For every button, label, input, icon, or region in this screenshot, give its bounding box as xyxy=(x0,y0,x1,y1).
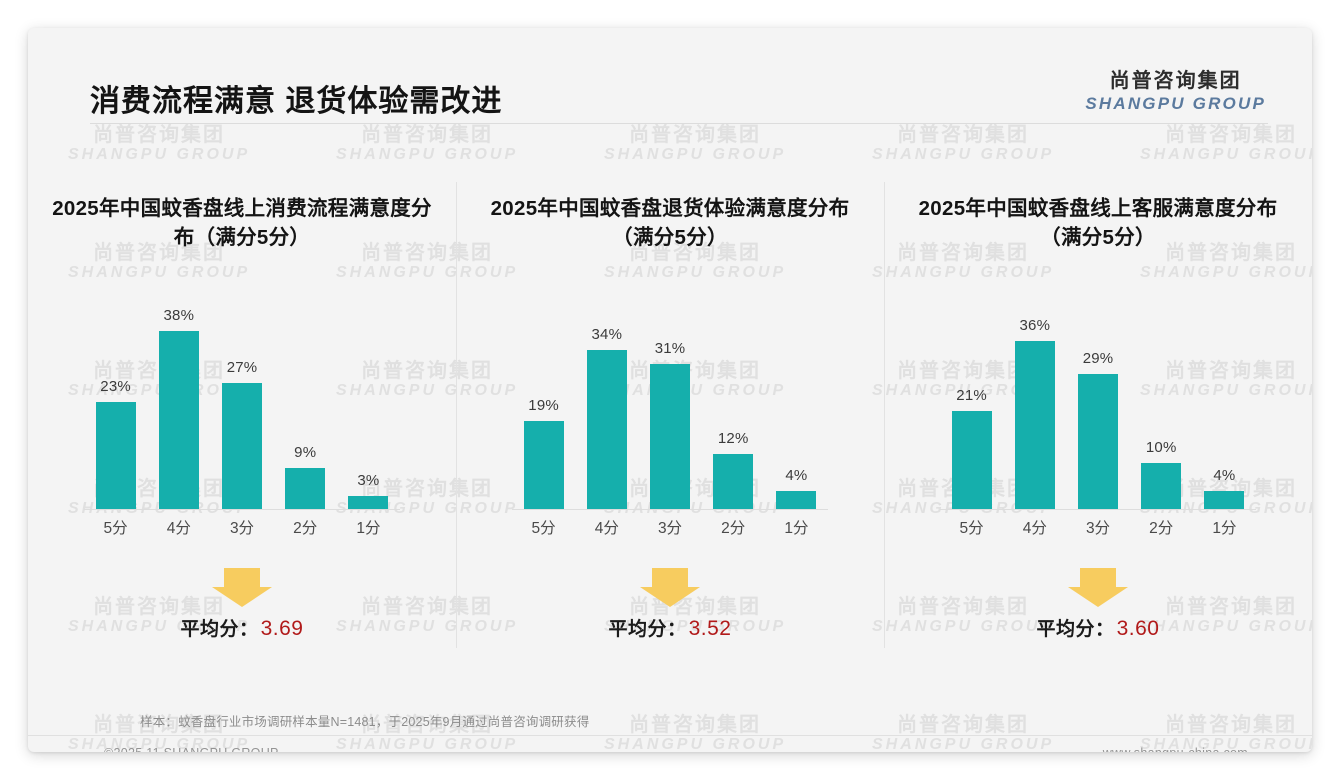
bar xyxy=(159,331,199,510)
watermark-chinese: 尚普咨询集团 xyxy=(1140,124,1312,146)
watermark-chinese: 尚普咨询集团 xyxy=(604,124,786,146)
average-label-3: 平均分： xyxy=(1037,619,1115,640)
chart-title-3: 2025年中国蚊香盘线上客服满意度分布（满分5分） xyxy=(896,168,1300,260)
bar-chart-2: 19%34%31%12%4% 5分4分3分2分1分 xyxy=(512,292,828,542)
chart-title-1: 2025年中国蚊香盘线上消费流程满意度分布（满分5分） xyxy=(40,168,444,260)
plot-area-1: 23%38%27%9%3% xyxy=(84,292,400,510)
watermark-english: SHANGPU GROUP xyxy=(872,146,1054,164)
watermark-chinese: 尚普咨询集团 xyxy=(872,124,1054,146)
x-axis-tick-label: 5分 xyxy=(84,516,147,538)
bar-slot: 31% xyxy=(638,292,701,510)
bar xyxy=(1204,491,1244,510)
bar-slot: 34% xyxy=(575,292,638,510)
average-score-1: 平均分：3.69 xyxy=(40,614,444,641)
average-score-3: 平均分：3.60 xyxy=(896,614,1300,641)
bar-slot: 21% xyxy=(940,292,1003,510)
bar-slot: 19% xyxy=(512,292,575,510)
bar-slot: 36% xyxy=(1003,292,1066,510)
logo-english-text: SHANGPU GROUP xyxy=(1085,94,1266,114)
average-value-1: 3.69 xyxy=(261,617,304,640)
bar xyxy=(650,364,690,510)
watermark: 尚普咨询集团SHANGPU GROUP xyxy=(872,124,1054,164)
bar-slot: 23% xyxy=(84,292,147,510)
bar-slot: 12% xyxy=(702,292,765,510)
down-arrow-icon xyxy=(639,568,701,608)
average-block-2: 平均分：3.52 xyxy=(468,568,872,660)
watermark: 尚普咨询集团SHANGPU GROUP xyxy=(1140,124,1312,164)
watermark-chinese: 尚普咨询集团 xyxy=(1140,714,1312,736)
bar-slot: 27% xyxy=(210,292,273,510)
watermark-chinese: 尚普咨询集团 xyxy=(68,124,250,146)
x-axis-tick-label: 1分 xyxy=(1193,516,1256,538)
bar-value-label: 10% xyxy=(1146,439,1177,456)
watermark-chinese: 尚普咨询集团 xyxy=(336,124,518,146)
bar xyxy=(285,468,325,510)
copyright-text: ©2025.11 SHANGPU GROUP xyxy=(104,746,279,752)
bar-value-label: 34% xyxy=(591,326,622,343)
plot-area-3: 21%36%29%10%4% xyxy=(940,292,1256,510)
x-axis-tick-label: 5分 xyxy=(940,516,1003,538)
watermark: 尚普咨询集团SHANGPU GROUP xyxy=(68,124,250,164)
chart-title-2: 2025年中国蚊香盘退货体验满意度分布（满分5分） xyxy=(468,168,872,260)
bar-slot: 29% xyxy=(1066,292,1129,510)
bar xyxy=(776,491,816,510)
bar xyxy=(713,454,753,510)
x-axis-tick-label: 5分 xyxy=(512,516,575,538)
bar-value-label: 4% xyxy=(1213,467,1235,484)
watermark-chinese: 尚普咨询集团 xyxy=(872,714,1054,736)
x-axis-line-3 xyxy=(940,509,1256,510)
bar-slot: 4% xyxy=(765,292,828,510)
bar-value-label: 4% xyxy=(785,467,807,484)
bar-slot: 4% xyxy=(1193,292,1256,510)
average-value-3: 3.60 xyxy=(1117,617,1160,640)
x-axis-tick-label: 3分 xyxy=(638,516,701,538)
bar xyxy=(1078,374,1118,510)
x-axis-tick-label: 4分 xyxy=(575,516,638,538)
watermark: 尚普咨询集团SHANGPU GROUP xyxy=(604,124,786,164)
bar-value-label: 12% xyxy=(718,430,749,447)
watermark-english: SHANGPU GROUP xyxy=(68,146,250,164)
bar-value-label: 29% xyxy=(1083,350,1114,367)
bar-chart-1: 23%38%27%9%3% 5分4分3分2分1分 xyxy=(84,292,400,542)
bar xyxy=(348,496,388,510)
bar-value-label: 38% xyxy=(163,307,194,324)
x-axis-tick-label: 1分 xyxy=(337,516,400,538)
x-axis-line-1 xyxy=(84,509,400,510)
plot-area-2: 19%34%31%12%4% xyxy=(512,292,828,510)
slide-footer: ©2025.11 SHANGPU GROUP www.shangpu-china… xyxy=(28,736,1312,752)
x-axis-tick-label: 2分 xyxy=(274,516,337,538)
bar-chart-3: 21%36%29%10%4% 5分4分3分2分1分 xyxy=(940,292,1256,542)
bar-value-label: 31% xyxy=(655,340,686,357)
sample-footnote: 样本：蚊香盘行业市场调研样本量N=1481，于2025年9月通过尚普咨询调研获得 xyxy=(140,711,589,730)
bar-slot: 38% xyxy=(147,292,210,510)
x-axis-line-2 xyxy=(512,509,828,510)
watermark-english: SHANGPU GROUP xyxy=(336,146,518,164)
bar xyxy=(524,421,564,510)
x-axis-tick-label: 4分 xyxy=(147,516,210,538)
page-title: 消费流程满意 退货体验需改进 xyxy=(90,76,502,120)
average-score-2: 平均分：3.52 xyxy=(468,614,872,641)
bar xyxy=(96,402,136,510)
watermark-chinese: 尚普咨询集团 xyxy=(604,714,786,736)
x-axis-ticks-2: 5分4分3分2分1分 xyxy=(512,512,828,542)
average-value-2: 3.52 xyxy=(689,617,732,640)
x-axis-tick-label: 1分 xyxy=(765,516,828,538)
x-axis-tick-label: 3分 xyxy=(210,516,273,538)
watermark-english: SHANGPU GROUP xyxy=(604,146,786,164)
average-label-1: 平均分： xyxy=(181,619,259,640)
down-arrow-icon xyxy=(211,568,273,608)
slide-header: 消费流程满意 退货体验需改进 尚普咨询集团 SHANGPU GROUP xyxy=(28,28,1312,124)
bar-value-label: 23% xyxy=(100,378,131,395)
bar xyxy=(1141,463,1181,510)
x-axis-ticks-1: 5分4分3分2分1分 xyxy=(84,512,400,542)
bar-value-label: 27% xyxy=(227,359,258,376)
bar-value-label: 9% xyxy=(294,444,316,461)
x-axis-ticks-3: 5分4分3分2分1分 xyxy=(940,512,1256,542)
average-block-1: 平均分：3.69 xyxy=(40,568,444,660)
chart-panel-3: 2025年中国蚊香盘线上客服满意度分布（满分5分） 21%36%29%10%4%… xyxy=(884,168,1312,678)
bar-value-label: 21% xyxy=(956,387,987,404)
chart-panels: 2025年中国蚊香盘线上消费流程满意度分布（满分5分） 23%38%27%9%3… xyxy=(28,168,1312,678)
bar xyxy=(222,383,262,510)
chart-panel-2: 2025年中国蚊香盘退货体验满意度分布（满分5分） 19%34%31%12%4%… xyxy=(456,168,884,678)
watermark: 尚普咨询集团SHANGPU GROUP xyxy=(336,124,518,164)
watermark-english: SHANGPU GROUP xyxy=(1140,146,1312,164)
bar-value-label: 19% xyxy=(528,397,559,414)
x-axis-tick-label: 2分 xyxy=(1130,516,1193,538)
slide-card: 尚普咨询集团SHANGPU GROUP尚普咨询集团SHANGPU GROUP尚普… xyxy=(28,28,1312,752)
website-text: www.shangpu-china.com xyxy=(1103,746,1248,752)
x-axis-tick-label: 4分 xyxy=(1003,516,1066,538)
x-axis-tick-label: 3分 xyxy=(1066,516,1129,538)
x-axis-tick-label: 2分 xyxy=(702,516,765,538)
logo-chinese-text: 尚普咨询集团 xyxy=(1085,64,1266,93)
bar xyxy=(1015,341,1055,510)
header-divider xyxy=(90,123,1268,124)
bar-slot: 3% xyxy=(337,292,400,510)
down-arrow-icon xyxy=(1067,568,1129,608)
bar xyxy=(587,350,627,510)
bar xyxy=(952,411,992,510)
chart-panel-1: 2025年中国蚊香盘线上消费流程满意度分布（满分5分） 23%38%27%9%3… xyxy=(28,168,456,678)
bar-slot: 9% xyxy=(274,292,337,510)
average-block-3: 平均分：3.60 xyxy=(896,568,1300,660)
bar-value-label: 3% xyxy=(357,472,379,489)
brand-logo: 尚普咨询集团 SHANGPU GROUP xyxy=(1085,64,1266,114)
bar-value-label: 36% xyxy=(1019,317,1050,334)
bar-slot: 10% xyxy=(1130,292,1193,510)
average-label-2: 平均分： xyxy=(609,619,687,640)
